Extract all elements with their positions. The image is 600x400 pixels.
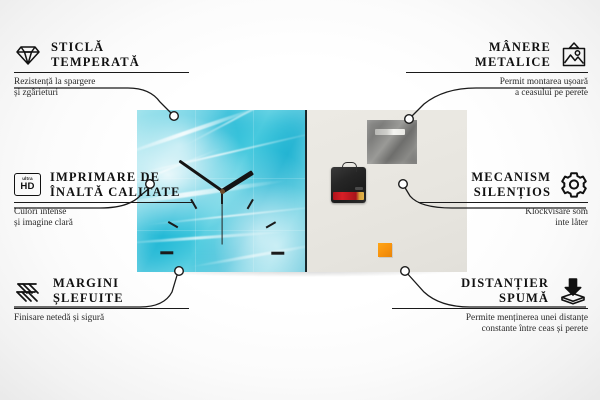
callout-title: IMPRIMARE DE ÎNALTĂ CALITATE xyxy=(50,170,181,199)
callout-head: MECANISM SILENȚIOS xyxy=(418,170,588,199)
gear-icon xyxy=(560,171,588,198)
clock-tick xyxy=(271,252,284,255)
hanger-slot xyxy=(375,129,405,135)
callout-glass: STICLĂ TEMPERATĂ Rezistență la spargere … xyxy=(14,40,189,100)
callout-edges: MARGINI ȘLEFUITE Finisare netedă și sigu… xyxy=(14,276,189,324)
clock-hour-hand xyxy=(221,170,254,193)
callout-mechanism: MECANISM SILENȚIOS Klockvisare som inte … xyxy=(418,170,588,230)
clock-second-hand xyxy=(221,191,222,245)
quartz-mechanism xyxy=(331,167,366,203)
callout-description: Klockvisare som inte låter xyxy=(418,207,588,230)
callout-handles: MÂNERE METALICE Permit montarea ușoară a… xyxy=(406,40,588,100)
callout-rule xyxy=(14,72,189,73)
callout-head: MARGINI ȘLEFUITE xyxy=(14,276,189,305)
callout-description: Rezistență la spargere și zgârieturi xyxy=(14,77,189,100)
callout-title: MECANISM SILENȚIOS xyxy=(471,170,551,199)
foam-spacer-pad xyxy=(378,243,392,257)
infographic-canvas: STICLĂ TEMPERATĂ Rezistență la spargere … xyxy=(0,0,600,400)
callout-head: DISTANȚIER SPUMĂ xyxy=(392,276,588,305)
polished-edges-icon xyxy=(14,279,44,303)
callout-rule xyxy=(418,202,588,203)
ultra-hd-large-text: HD xyxy=(20,182,34,192)
clock-hand-cap xyxy=(220,189,225,194)
callout-head: STICLĂ TEMPERATĂ xyxy=(14,40,189,69)
callout-title: MARGINI ȘLEFUITE xyxy=(53,276,124,305)
hanging-frame-icon xyxy=(560,42,588,68)
metal-hanger-plate xyxy=(367,120,417,164)
callout-rule xyxy=(406,72,588,73)
callout-rule xyxy=(14,202,194,203)
callout-print: ultra HD IMPRIMARE DE ÎNALTĂ CALITATE Cu… xyxy=(14,170,194,230)
callout-title: STICLĂ TEMPERATĂ xyxy=(51,40,140,69)
callout-head: MÂNERE METALICE xyxy=(406,40,588,69)
ultra-hd-icon: ultra HD xyxy=(14,173,41,196)
callout-description: Finisare netedă și sigură xyxy=(14,313,189,324)
clock-tick xyxy=(160,252,173,255)
callout-description: Culori intense și imagine clară xyxy=(14,207,194,230)
callout-title: MÂNERE METALICE xyxy=(475,40,551,69)
foam-spacer-icon xyxy=(558,277,588,305)
callout-rule xyxy=(14,308,189,309)
mechanism-detail xyxy=(355,187,363,190)
battery xyxy=(333,192,364,200)
diamond-icon xyxy=(14,43,42,67)
clock-tick xyxy=(266,221,276,228)
callout-description: Permite menținerea unei distanțe constan… xyxy=(392,313,588,336)
callout-spacer: DISTANȚIER SPUMĂ Permite menținerea unei… xyxy=(392,276,588,336)
callout-rule xyxy=(392,308,588,309)
callout-description: Permit montarea ușoară a ceasului pe per… xyxy=(406,77,588,100)
clock-tick xyxy=(247,199,254,209)
callout-head: ultra HD IMPRIMARE DE ÎNALTĂ CALITATE xyxy=(14,170,194,199)
callout-title: DISTANȚIER SPUMĂ xyxy=(461,276,549,305)
mechanism-hook xyxy=(342,162,357,172)
